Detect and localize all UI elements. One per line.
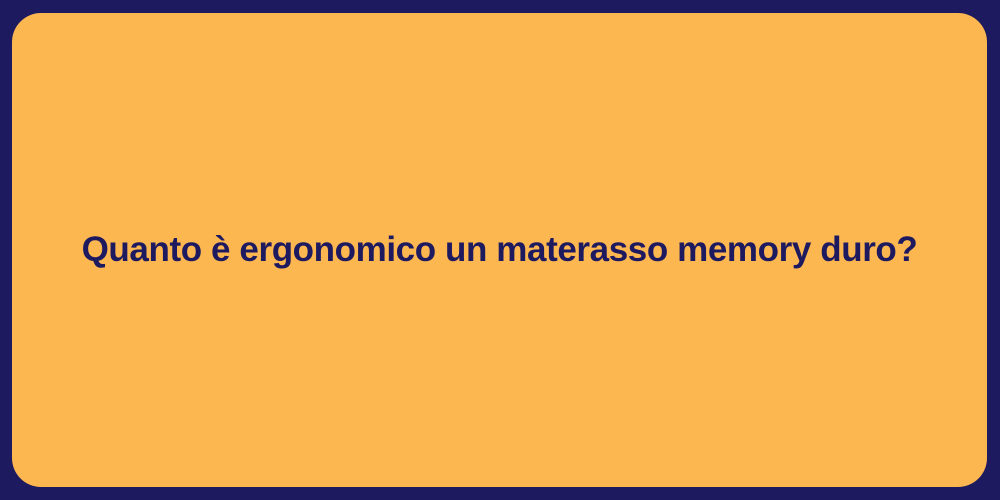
card-surface: Quanto è ergonomico un materasso memory …: [12, 13, 987, 487]
card-frame: Quanto è ergonomico un materasso memory …: [0, 0, 1000, 500]
page-title: Quanto è ergonomico un materasso memory …: [42, 230, 958, 270]
